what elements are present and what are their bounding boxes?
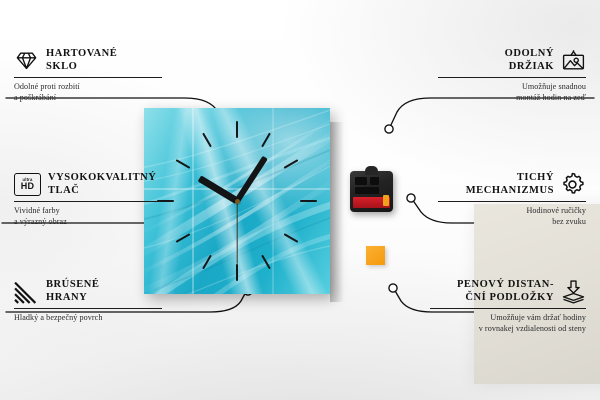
feature-sub-line: Umožňuje snadnou bbox=[438, 82, 586, 93]
divider bbox=[430, 308, 586, 309]
feature-sub-line: Odolné proti rozbití bbox=[14, 82, 162, 93]
glass-edge-line bbox=[272, 108, 274, 294]
clock-movement bbox=[350, 171, 393, 212]
feature-title-line: TICHÝ bbox=[466, 172, 554, 185]
feature-header: TICHÝ MECHANIZMUS bbox=[438, 172, 586, 197]
feature-title-line: TLAČ bbox=[48, 185, 156, 198]
feature-title-line: BRÚSENÉ bbox=[46, 279, 99, 292]
feature-sub-line: Hladký a bezpečný povrch bbox=[14, 313, 162, 324]
feature-sub-line: a poškrábání bbox=[14, 93, 162, 104]
clock-drop-shadow bbox=[330, 122, 344, 302]
feature-sub-line: Hodinové ručičky bbox=[438, 206, 586, 217]
glass-edge-line bbox=[144, 188, 330, 190]
feature-header: HARTOVANÉ SKLO bbox=[14, 48, 162, 73]
diamond-icon bbox=[14, 48, 39, 73]
infographic-canvas: HARTOVANÉ SKLO Odolné proti rozbití a po… bbox=[0, 0, 600, 400]
feature-header: PENOVÝ DISTAN- ČNÍ PODLOŽKY bbox=[430, 279, 586, 304]
movement-slot bbox=[355, 187, 379, 194]
feature-durable-hanger: ODOLNÝ DRŽIAK Umožňuje snadnou montáž ho… bbox=[438, 48, 586, 103]
ultra-hd-icon: ultra HD bbox=[14, 173, 41, 196]
ultra-hd-icon-large-label: HD bbox=[21, 182, 34, 191]
feature-title-line: SKLO bbox=[46, 61, 117, 74]
feature-sub-line: Umožňuje vám držať hodiny bbox=[430, 313, 586, 324]
clock-center-hub bbox=[235, 199, 240, 204]
feature-sub-line: v rovnakej vzdialenosti od steny bbox=[430, 324, 586, 335]
movement-slot bbox=[355, 177, 367, 185]
product-photo bbox=[144, 108, 352, 294]
wall-clock bbox=[144, 108, 330, 294]
feature-title-line: VYSOKOKVALITNÝ bbox=[48, 172, 156, 185]
picture-hanger-icon bbox=[561, 48, 586, 73]
movement-hook bbox=[365, 166, 378, 175]
feature-title-line: HRANY bbox=[46, 292, 99, 305]
clock-second-hand bbox=[236, 201, 237, 264]
feature-silent-mechanism: TICHÝ MECHANIZMUS Hodinové ručičky bez z… bbox=[438, 172, 586, 227]
feature-tempered-glass: HARTOVANÉ SKLO Odolné proti rozbití a po… bbox=[14, 48, 162, 103]
gear-icon bbox=[561, 172, 586, 197]
foam-spacer-pad bbox=[366, 246, 385, 265]
feature-header: ultra HD VYSOKOKVALITNÝ TLAČ bbox=[14, 172, 162, 197]
connector-node bbox=[407, 194, 415, 202]
movement-battery bbox=[353, 197, 390, 208]
feature-header: BRÚSENÉ HRANY bbox=[14, 279, 162, 304]
divider bbox=[438, 201, 586, 202]
clock-tick bbox=[236, 264, 238, 281]
divider bbox=[438, 77, 586, 78]
divider bbox=[14, 201, 162, 202]
feature-sub-line: Vividné farby bbox=[14, 206, 162, 217]
feature-header: ODOLNÝ DRŽIAK bbox=[438, 48, 586, 73]
feature-title-line: PENOVÝ DISTAN- bbox=[457, 279, 554, 292]
clock-tick bbox=[236, 121, 238, 138]
glass-edge-line bbox=[192, 108, 194, 294]
press-down-icon bbox=[561, 279, 586, 304]
feature-title-line: MECHANIZMUS bbox=[466, 185, 554, 198]
feature-title-line: ČNÍ PODLOŽKY bbox=[457, 292, 554, 305]
divider bbox=[14, 77, 162, 78]
feature-high-quality-print: ultra HD VYSOKOKVALITNÝ TLAČ Vividné far… bbox=[14, 172, 162, 227]
feature-foam-spacers: PENOVÝ DISTAN- ČNÍ PODLOŽKY Umožňuje vám… bbox=[430, 279, 586, 334]
feature-sub-line: bez zvuku bbox=[438, 217, 586, 228]
feature-ground-edges: BRÚSENÉ HRANY Hladký a bezpečný povrch bbox=[14, 279, 162, 324]
connector-node bbox=[385, 125, 393, 133]
divider bbox=[14, 308, 162, 309]
feature-sub-line: a výrazný obraz bbox=[14, 217, 162, 228]
connector-node bbox=[389, 284, 397, 292]
feature-title-line: DRŽIAK bbox=[505, 61, 554, 74]
feature-sub-line: montáž hodin na zeď bbox=[438, 93, 586, 104]
feature-title-line: HARTOVANÉ bbox=[46, 48, 117, 61]
feature-title-line: ODOLNÝ bbox=[505, 48, 554, 61]
beveled-edges-icon bbox=[14, 279, 39, 304]
battery-terminal bbox=[383, 195, 389, 206]
movement-slot bbox=[370, 177, 379, 185]
